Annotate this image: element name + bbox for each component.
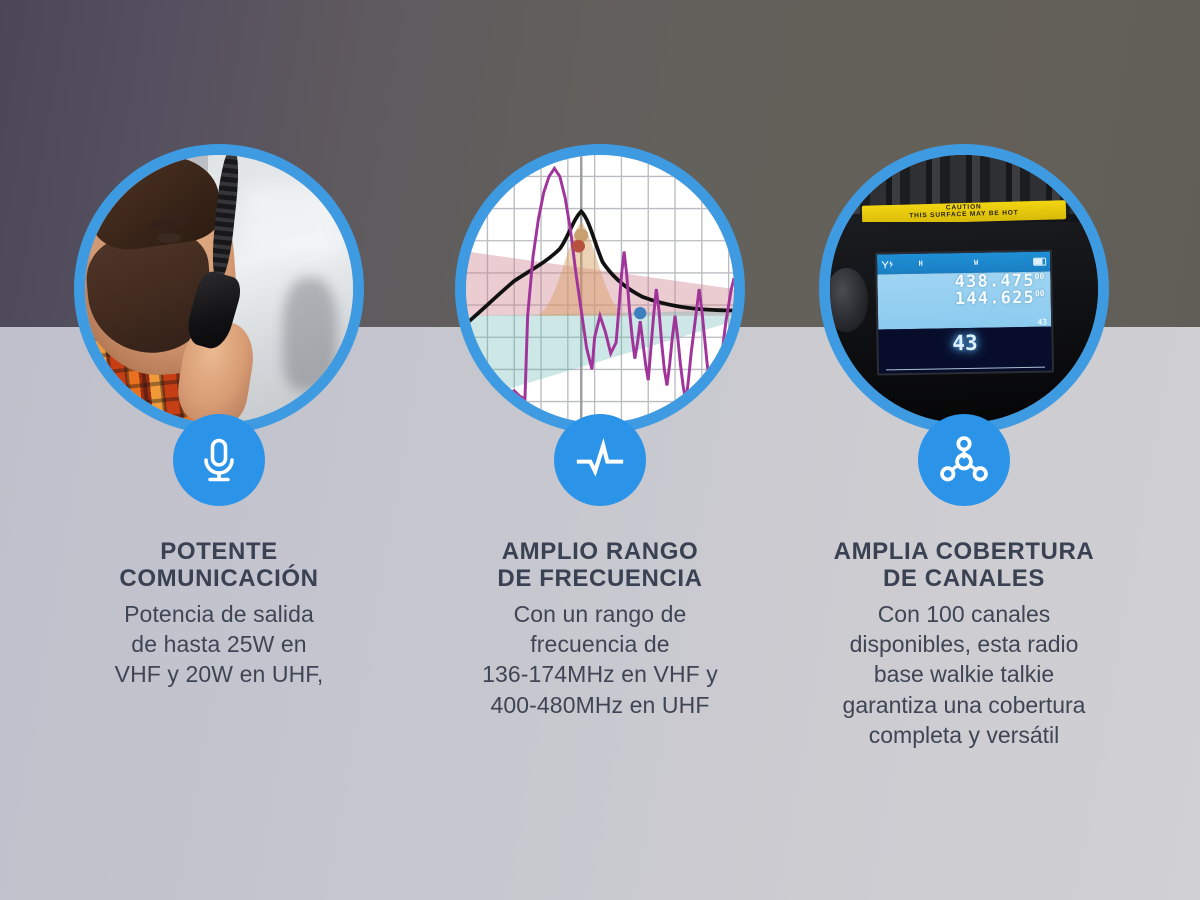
photo-circle-3: CAUTION THIS SURFACE MAY BE HOT [819,144,1109,434]
lcd-channel-large: 43 [952,331,978,355]
lcd-screen: H W 438.47500 144.62500 [874,250,1053,376]
feature-body: Potencia de salida de hasta 25W en VHF y… [19,599,419,690]
radio-front-panel: CAUTION THIS SURFACE MAY BE HOT [830,155,1098,423]
caution-line-2: THIS SURFACE MAY BE HOT [909,211,1018,221]
infographic-canvas: POTENTE COMUNICACIÓN Potencia de salida … [0,0,1200,900]
lcd-indicator-w: W [973,259,977,267]
battery-icon [1032,258,1045,266]
lcd-divider [885,367,1044,371]
lcd-frequency-secondary-sub: 00 [1034,290,1044,299]
pulse-waveform-icon [574,434,626,486]
lcd-frequency-primary-sub: 00 [1034,273,1044,282]
photo1-highlight [246,187,337,257]
radio-knob [830,268,868,332]
photo-circle-2 [455,144,745,434]
photo1-scene [85,155,353,423]
feature-card-3: CAUTION THIS SURFACE MAY BE HOT [764,0,1164,900]
lcd-frequency-area: 438.47500 144.62500 43 [877,272,1051,330]
feature-text-1: POTENTE COMUNICACIÓN Potencia de salida … [19,538,419,690]
spectrum-chart [466,155,734,423]
feature-icon-badge-2[interactable] [554,414,646,506]
antenna-icon [881,260,895,269]
feature-body: Con un rango de frecuencia de 136-174MHz… [400,599,800,720]
chart-marker-blue [634,307,646,319]
photo-man-holding-radio-microphone [85,155,353,423]
network-nodes-icon [938,434,990,486]
feature-columns: POTENTE COMUNICACIÓN Potencia de salida … [0,0,1200,900]
feature-headline: AMPLIA COBERTURA DE CANALES [764,538,1164,593]
feature-icon-badge-1[interactable] [173,414,265,506]
feature-text-2: AMPLIO RANGO DE FRECUENCIA Con un rango … [400,538,800,720]
chart-marker-red [572,240,585,253]
photo-circle-1 [74,144,364,434]
lcd-frequency-secondary: 144.625 [954,289,1034,310]
chart-svg [466,155,734,423]
feature-headline: AMPLIO RANGO DE FRECUENCIA [400,538,800,593]
lcd-frequency-secondary-row: 144.62500 [883,290,1044,310]
caution-text: CAUTION THIS SURFACE MAY BE HOT [909,204,1019,221]
feature-card-2: AMPLIO RANGO DE FRECUENCIA Con un rango … [400,0,800,900]
lcd-channel-area: 43 [878,327,1052,374]
photo-radio-base-lcd-display: CAUTION THIS SURFACE MAY BE HOT [830,155,1098,423]
feature-card-1: POTENTE COMUNICACIÓN Potencia de salida … [19,0,419,900]
photo1-background-blur [283,278,337,391]
feature-text-3: AMPLIA COBERTURA DE CANALES Con 100 cana… [764,538,1164,751]
microphone-icon [193,434,245,486]
feature-icon-badge-3[interactable] [918,414,1010,506]
photo-frequency-spectrum-chart [466,155,734,423]
feature-body: Con 100 canales disponibles, esta radio … [764,599,1164,751]
feature-headline: POTENTE COMUNICACIÓN [19,538,419,593]
lcd-indicator-h: H [918,260,922,268]
